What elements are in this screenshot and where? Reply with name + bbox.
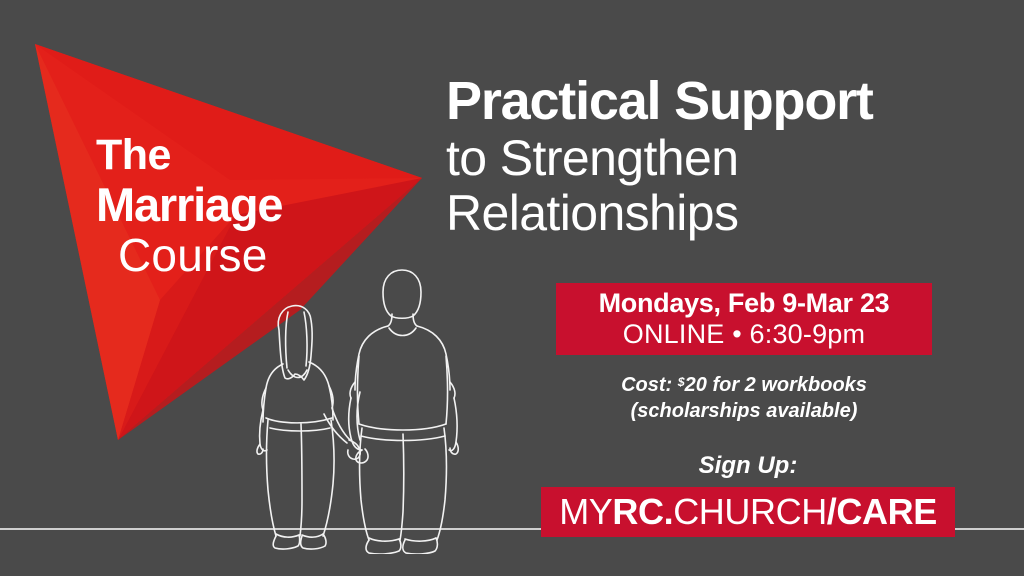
signup-label: Sign Up: — [541, 452, 955, 480]
url-part-my: MY — [559, 491, 612, 533]
cost-amount: 20 for 2 workbooks — [685, 374, 867, 396]
headline-line-3: Relationships — [446, 188, 966, 239]
cost-label: Cost: — [621, 374, 678, 396]
logo-line-marriage: Marriage — [96, 181, 376, 228]
schedule-banner: Mondays, Feb 9-Mar 23 ONLINE • 6:30-9pm — [556, 283, 932, 355]
url-part-care: /CARE — [827, 491, 937, 533]
page-title: Practical Support to Strengthen Relation… — [446, 74, 966, 239]
schedule-time: ONLINE • 6:30-9pm — [623, 319, 865, 350]
headline-line-2: to Strengthen — [446, 133, 966, 184]
cost-line-2: (scholarships available) — [556, 398, 932, 424]
currency-symbol: $ — [678, 375, 685, 389]
url-part-church: CHURCH — [673, 491, 827, 533]
signup-url-banner[interactable]: MYRC.CHURCH/CARE — [541, 487, 955, 537]
marriage-course-promo-poster: The Marriage Course — [0, 0, 1024, 576]
url-part-rc: RC. — [612, 491, 673, 533]
logo-line-the: The — [96, 134, 376, 177]
schedule-dates: Mondays, Feb 9-Mar 23 — [599, 288, 890, 319]
headline-line-1: Practical Support — [446, 74, 966, 129]
cost-info: Cost: $20 for 2 workbooks (scholarships … — [556, 372, 932, 424]
couple-holding-hands-line-art — [252, 252, 467, 554]
cost-line-1: Cost: $20 for 2 workbooks — [556, 372, 932, 398]
